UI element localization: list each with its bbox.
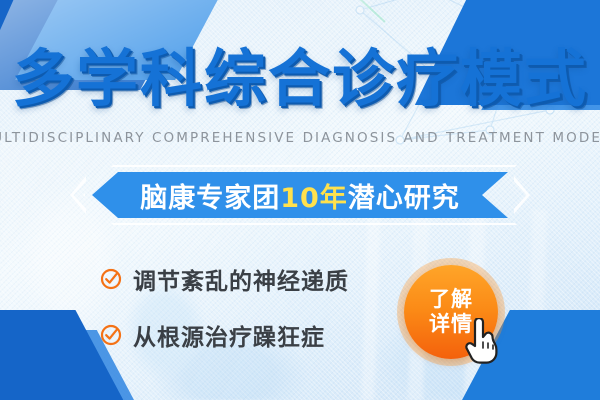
learn-more-button[interactable]: 了解 详情 <box>404 265 498 359</box>
page-title: 多学科综合诊疗模式 <box>0 48 600 110</box>
ribbon-suffix: 潜心研究 <box>348 176 460 215</box>
cta-line-1: 了解 <box>429 287 473 312</box>
promo-banner: 多学科综合诊疗模式 MULTIDISCIPLINARY COMPREHENSIV… <box>0 0 600 400</box>
check-circle-icon <box>100 268 122 290</box>
list-item: 调节紊乱的神经递质 <box>100 262 349 296</box>
list-item-label: 从根源治疗躁狂症 <box>133 318 325 352</box>
ribbon-highlight: 10年 <box>280 176 348 215</box>
list-item-label: 调节紊乱的神经递质 <box>133 262 349 296</box>
corner-wedge-bottom-right-mid <box>500 320 600 400</box>
chevron-right-icon <box>514 176 530 214</box>
ribbon-text: 脑康专家团10年潜心研究 <box>92 172 508 218</box>
check-circle-icon <box>100 324 122 346</box>
list-item: 从根源治疗躁狂症 <box>100 318 349 352</box>
page-subtitle: MULTIDISCIPLINARY COMPREHENSIVE DIAGNOSI… <box>0 130 600 146</box>
feature-list: 调节紊乱的神经递质 从根源治疗躁狂症 <box>100 262 349 352</box>
highlight-ribbon: 脑康专家团10年潜心研究 <box>92 172 508 218</box>
subtitle-row: MULTIDISCIPLINARY COMPREHENSIVE DIAGNOSI… <box>0 130 600 146</box>
cta-line-2: 详情 <box>429 312 473 337</box>
ribbon-prefix: 脑康专家团 <box>140 176 280 215</box>
